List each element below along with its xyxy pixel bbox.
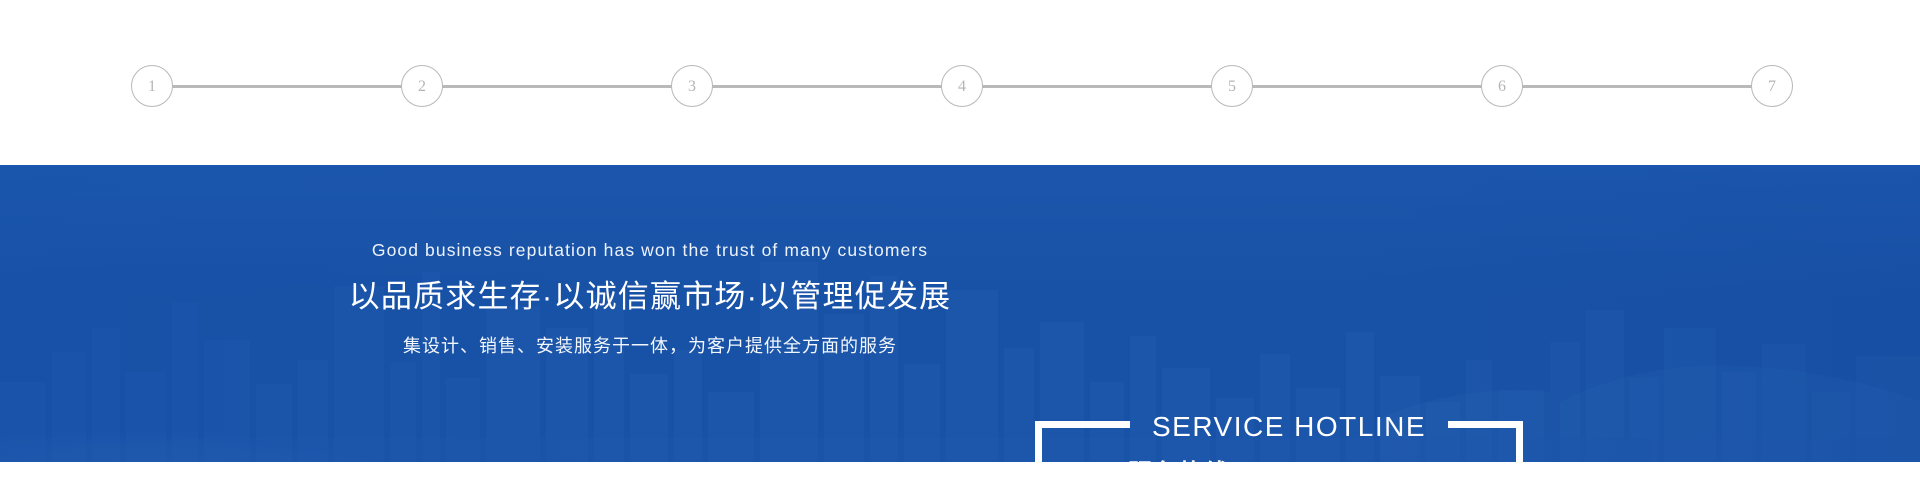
stepper-step-label: 6 <box>1498 79 1506 95</box>
slogan-subline: 集设计、销售、安装服务于一体，为客户提供全方面的服务 <box>180 335 1120 358</box>
stepper-step-3[interactable]: 3 <box>671 65 713 107</box>
hotline-phone-primary[interactable]: 183-2660-0068 <box>1255 460 1431 462</box>
promo-banner: Good business reputation has won the tru… <box>0 165 1920 462</box>
stepper-step-2[interactable]: 2 <box>401 65 443 107</box>
hotline-numbers: 服务热线：183-2660-0068 0551-63749777 <box>1035 455 1523 462</box>
stepper-step-label: 2 <box>418 79 426 95</box>
stepper-step-6[interactable]: 6 <box>1481 65 1523 107</box>
stepper-step-1[interactable]: 1 <box>131 65 173 107</box>
slogan-english-line: Good business reputation has won the tru… <box>180 240 1120 261</box>
stepper-step-7[interactable]: 7 <box>1751 65 1793 107</box>
service-hotline-box: SERVICE HOTLINE 服务热线：183-2660-0068 0551-… <box>1035 413 1523 462</box>
hotline-primary-row: 服务热线：183-2660-0068 <box>1035 455 1523 462</box>
hotline-border-top-left <box>1035 421 1130 428</box>
stepper-step-label: 4 <box>958 79 966 95</box>
hotline-border-top-right <box>1448 421 1523 428</box>
stepper-step-label: 3 <box>688 79 696 95</box>
stepper-step-label: 5 <box>1228 79 1236 95</box>
pagination-stepper: 1 2 3 4 5 6 7 <box>0 0 1920 165</box>
stepper-step-label: 7 <box>1768 79 1776 95</box>
slogan-block: Good business reputation has won the tru… <box>180 240 1120 358</box>
hotline-title: SERVICE HOTLINE <box>1130 413 1448 441</box>
hotline-label: 服务热线： <box>1127 460 1255 462</box>
stepper-step-4[interactable]: 4 <box>941 65 983 107</box>
slogan-headline: 以品质求生存·以诚信赢市场·以管理促发展 <box>180 278 1120 317</box>
stepper-step-5[interactable]: 5 <box>1211 65 1253 107</box>
stepper-step-label: 1 <box>148 79 156 95</box>
